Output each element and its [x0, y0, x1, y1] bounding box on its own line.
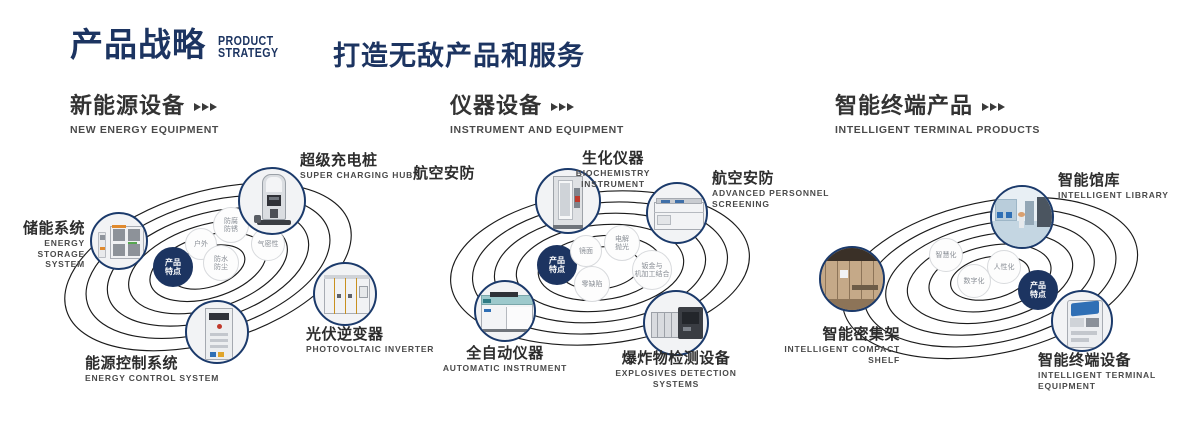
- node-label-cn: 储能系统: [0, 220, 85, 237]
- feature-bubble: 零缺陷: [574, 266, 610, 302]
- node-label-cn: 全自动仪器: [437, 345, 573, 362]
- node-explosives-detection-systems[interactable]: [643, 290, 709, 356]
- node-label-en: EXPLOSIVES DETECTION SYSTEMS: [596, 368, 756, 389]
- node-automatic-instrument[interactable]: [474, 280, 536, 342]
- node-label-en: INTELLIGENT TERMINAL EQUIPMENT: [1038, 370, 1200, 391]
- cluster-intelligent-terminal: 智慧化 数字化 人性化 产品 特点 智能馆库 INTELLIGENT LIBRA…: [800, 150, 1200, 410]
- label-automatic-instrument: 全自动仪器 AUTOMATIC INSTRUMENT: [437, 345, 573, 374]
- section-title-cn: 仪器设备: [450, 96, 542, 118]
- section-header-intelligent: 智能终端产品 INTELLIGENT TERMINAL PRODUCTS: [835, 96, 1040, 136]
- cluster-instrument: 产品 特点 镜面 电解 抛光 零缺陷 钣金与 机加工结合 生化仪器 BIOCHE…: [400, 150, 800, 410]
- title-en: PRODUCT STRATEGY: [218, 35, 279, 59]
- node-label-en: INTELLIGENT COMPACT SHELF: [740, 344, 900, 365]
- section-title-en: INTELLIGENT TERMINAL PRODUCTS: [835, 124, 1040, 136]
- section-title-en: INSTRUMENT AND EQUIPMENT: [450, 124, 624, 136]
- node-super-charging-hub[interactable]: [238, 167, 306, 235]
- node-photovoltaic-inverter[interactable]: [313, 262, 377, 326]
- feature-bubble: 人性化: [987, 250, 1021, 284]
- section-title-en: NEW ENERGY EQUIPMENT: [70, 124, 219, 136]
- node-label-en: INTELLIGENT LIBRARY: [1058, 190, 1198, 201]
- feature-bubble: 电解 抛光: [604, 225, 640, 261]
- node-label-cn: 生化仪器: [558, 150, 668, 167]
- title-cn: 产品战略: [70, 28, 206, 61]
- node-label-en: AUTOMATIC INSTRUMENT: [437, 363, 573, 374]
- label-aviation-security-left: 航空安防: [395, 165, 475, 182]
- section-title-cn: 智能终端产品: [835, 96, 973, 118]
- section-header-new-energy: 新能源设备 NEW ENERGY EQUIPMENT: [70, 96, 219, 136]
- node-intelligent-library[interactable]: [990, 185, 1054, 249]
- node-advanced-personnel-screening[interactable]: [646, 182, 708, 244]
- chevron-right-icon: [551, 103, 574, 111]
- label-intelligent-library: 智能馆库 INTELLIGENT LIBRARY: [1058, 172, 1198, 201]
- feature-bubble: 防水 防尘: [203, 245, 239, 281]
- node-label-cn: 智能终端设备: [1038, 352, 1200, 369]
- section-header-instrument: 仪器设备 INSTRUMENT AND EQUIPMENT: [450, 96, 624, 136]
- label-intelligent-compact-shelf: 智能密集架 INTELLIGENT COMPACT SHELF: [740, 326, 900, 365]
- feature-bubble: 智慧化: [929, 238, 963, 272]
- section-title-cn: 新能源设备: [70, 96, 185, 118]
- poster-canvas: 产品战略 PRODUCT STRATEGY 打造无敌产品和服务 新能源设备 NE…: [0, 0, 1200, 422]
- node-intelligent-terminal-equipment[interactable]: [1051, 290, 1113, 352]
- label-energy-storage-system: 储能系统 ENERGY STORAGE SYSTEM: [0, 220, 85, 270]
- node-label-en: ENERGY STORAGE SYSTEM: [0, 238, 85, 270]
- feature-bubble: 数字化: [957, 264, 991, 298]
- node-label-cn: 航空安防: [395, 165, 475, 182]
- label-intelligent-terminal-equipment: 智能终端设备 INTELLIGENT TERMINAL EQUIPMENT: [1038, 352, 1200, 391]
- node-label-cn: 能源控制系统: [85, 355, 295, 372]
- label-energy-control-system: 能源控制系统 ENERGY CONTROL SYSTEM: [85, 355, 295, 384]
- node-label-cn: 智能密集架: [740, 326, 900, 343]
- label-explosives-detection-systems: 爆炸物检测设备 EXPLOSIVES DETECTION SYSTEMS: [596, 350, 756, 389]
- feature-bubble: 钣金与 机加工结合: [632, 250, 672, 290]
- node-intelligent-compact-shelf[interactable]: [819, 246, 885, 312]
- node-label-en: ENERGY CONTROL SYSTEM: [85, 373, 295, 384]
- feature-bubble: 镜面: [570, 235, 602, 267]
- node-label-cn: 智能馆库: [1058, 172, 1198, 189]
- cluster-new-energy: 产品 特点 户外 防腐 防锈 防水 防尘 气密性 储能系统 ENERGY STO…: [0, 150, 400, 410]
- node-energy-storage-system[interactable]: [90, 212, 148, 270]
- chevron-right-icon: [194, 103, 217, 111]
- feature-core-bubble: 产品 特点: [1018, 270, 1058, 310]
- node-label-cn: 爆炸物检测设备: [596, 350, 756, 367]
- poster-title: 产品战略 PRODUCT STRATEGY: [70, 28, 292, 61]
- chevron-right-icon: [982, 103, 1005, 111]
- poster-slogan: 打造无敌产品和服务: [333, 34, 585, 73]
